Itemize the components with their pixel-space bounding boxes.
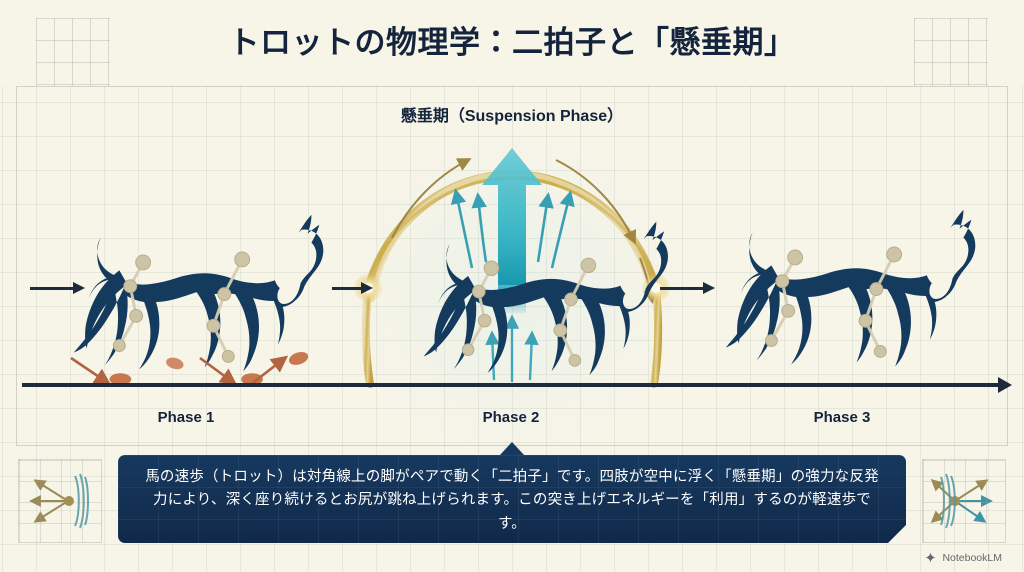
watermark: NotebookLM (924, 551, 1002, 564)
deco-left-frame (18, 459, 102, 543)
phase-label-2: Phase 2 (461, 409, 561, 426)
horse-phase-1 (74, 215, 323, 385)
notebooklm-logo-icon (924, 551, 937, 564)
phase-label-3: Phase 3 (792, 409, 892, 426)
motion-arrow-mid (332, 287, 362, 290)
infographic-stage: トロットの物理学：二拍子と「懸垂期」 懸垂期（Suspension Phase） (0, 0, 1024, 572)
caption-box: 馬の速歩（トロット）は対角線上の脚がペアで動く「二拍子」です。四肢が空中に浮く「… (118, 455, 906, 543)
caption-pointer (499, 442, 525, 456)
deco-right-frame (922, 459, 1006, 543)
ground-baseline-arrowhead (998, 377, 1012, 393)
caption-text: 馬の速歩（トロット）は対角線上の脚がペアで動く「二拍子」です。四肢が空中に浮く「… (144, 466, 880, 536)
phase-label-1: Phase 1 (136, 409, 236, 426)
motion-arrow-left (30, 287, 74, 290)
motion-arrow-right (660, 287, 704, 290)
horse-phase-3 (726, 210, 975, 366)
watermark-label: NotebookLM (942, 552, 1002, 564)
ground-baseline (22, 383, 1000, 387)
